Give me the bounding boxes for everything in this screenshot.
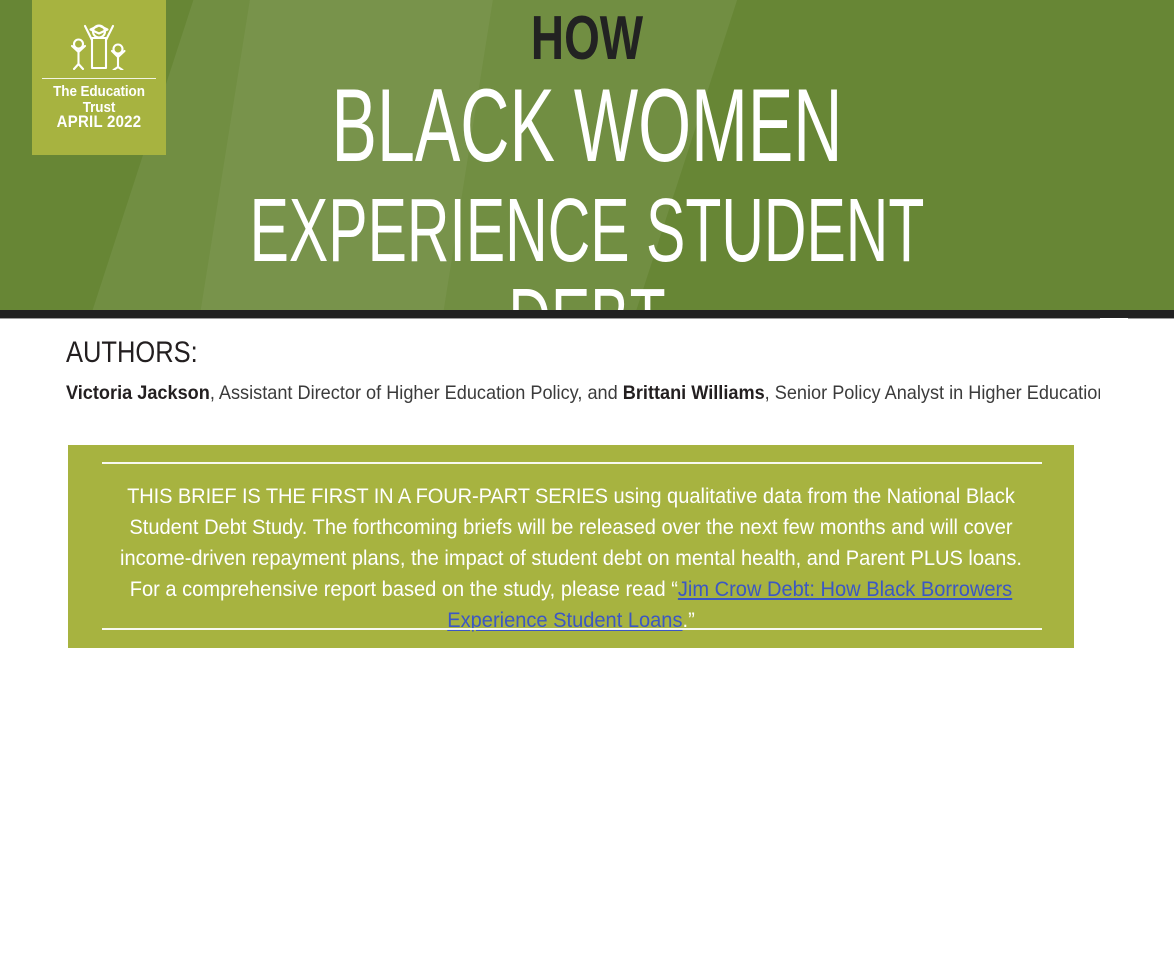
callout-paragraph: THIS BRIEF IS THE FIRST IN A FOUR-PART S… [119, 481, 1022, 636]
title-prefix: HOW [153, 8, 1022, 70]
education-trust-logo-icon [66, 20, 132, 70]
authors-heading: AUTHORS: [66, 337, 198, 369]
brief-callout-box: THIS BRIEF IS THE FIRST IN A FOUR-PART S… [68, 445, 1074, 648]
callout-rule-top [102, 462, 1042, 464]
author-name-1: Victoria Jackson [66, 382, 210, 404]
callout-lead-text: THIS BRIEF IS THE FIRST IN A FOUR-PART S… [127, 485, 608, 508]
author-title-2: , Senior Policy Analyst in Higher Educat… [765, 382, 1108, 404]
logo-divider [42, 78, 156, 79]
organization-logo-block: The Education Trust APRIL 2022 [32, 0, 166, 155]
document-body: AUTHORS: Victoria Jackson, Assistant Dir… [0, 319, 1174, 660]
header-banner: The Education Trust APRIL 2022 HOW BLACK… [0, 0, 1174, 310]
page-title-line-2: EXPERIENCE STUDENT DEBT [203, 186, 972, 310]
author-title-1: , Assistant Director of Higher Education… [210, 382, 623, 404]
vertical-scrollbar-track[interactable] [1100, 318, 1128, 660]
document-page: The Education Trust APRIL 2022 HOW BLACK… [0, 0, 1174, 660]
author-name-2: Brittani Williams [623, 382, 765, 404]
publication-date: APRIL 2022 [40, 112, 158, 132]
header-dark-divider [0, 310, 1174, 318]
authors-byline: Victoria Jackson, Assistant Director of … [66, 381, 996, 405]
callout-rule-bottom [102, 628, 1042, 630]
page-title-line-1: BLACK WOMEN [203, 74, 972, 178]
